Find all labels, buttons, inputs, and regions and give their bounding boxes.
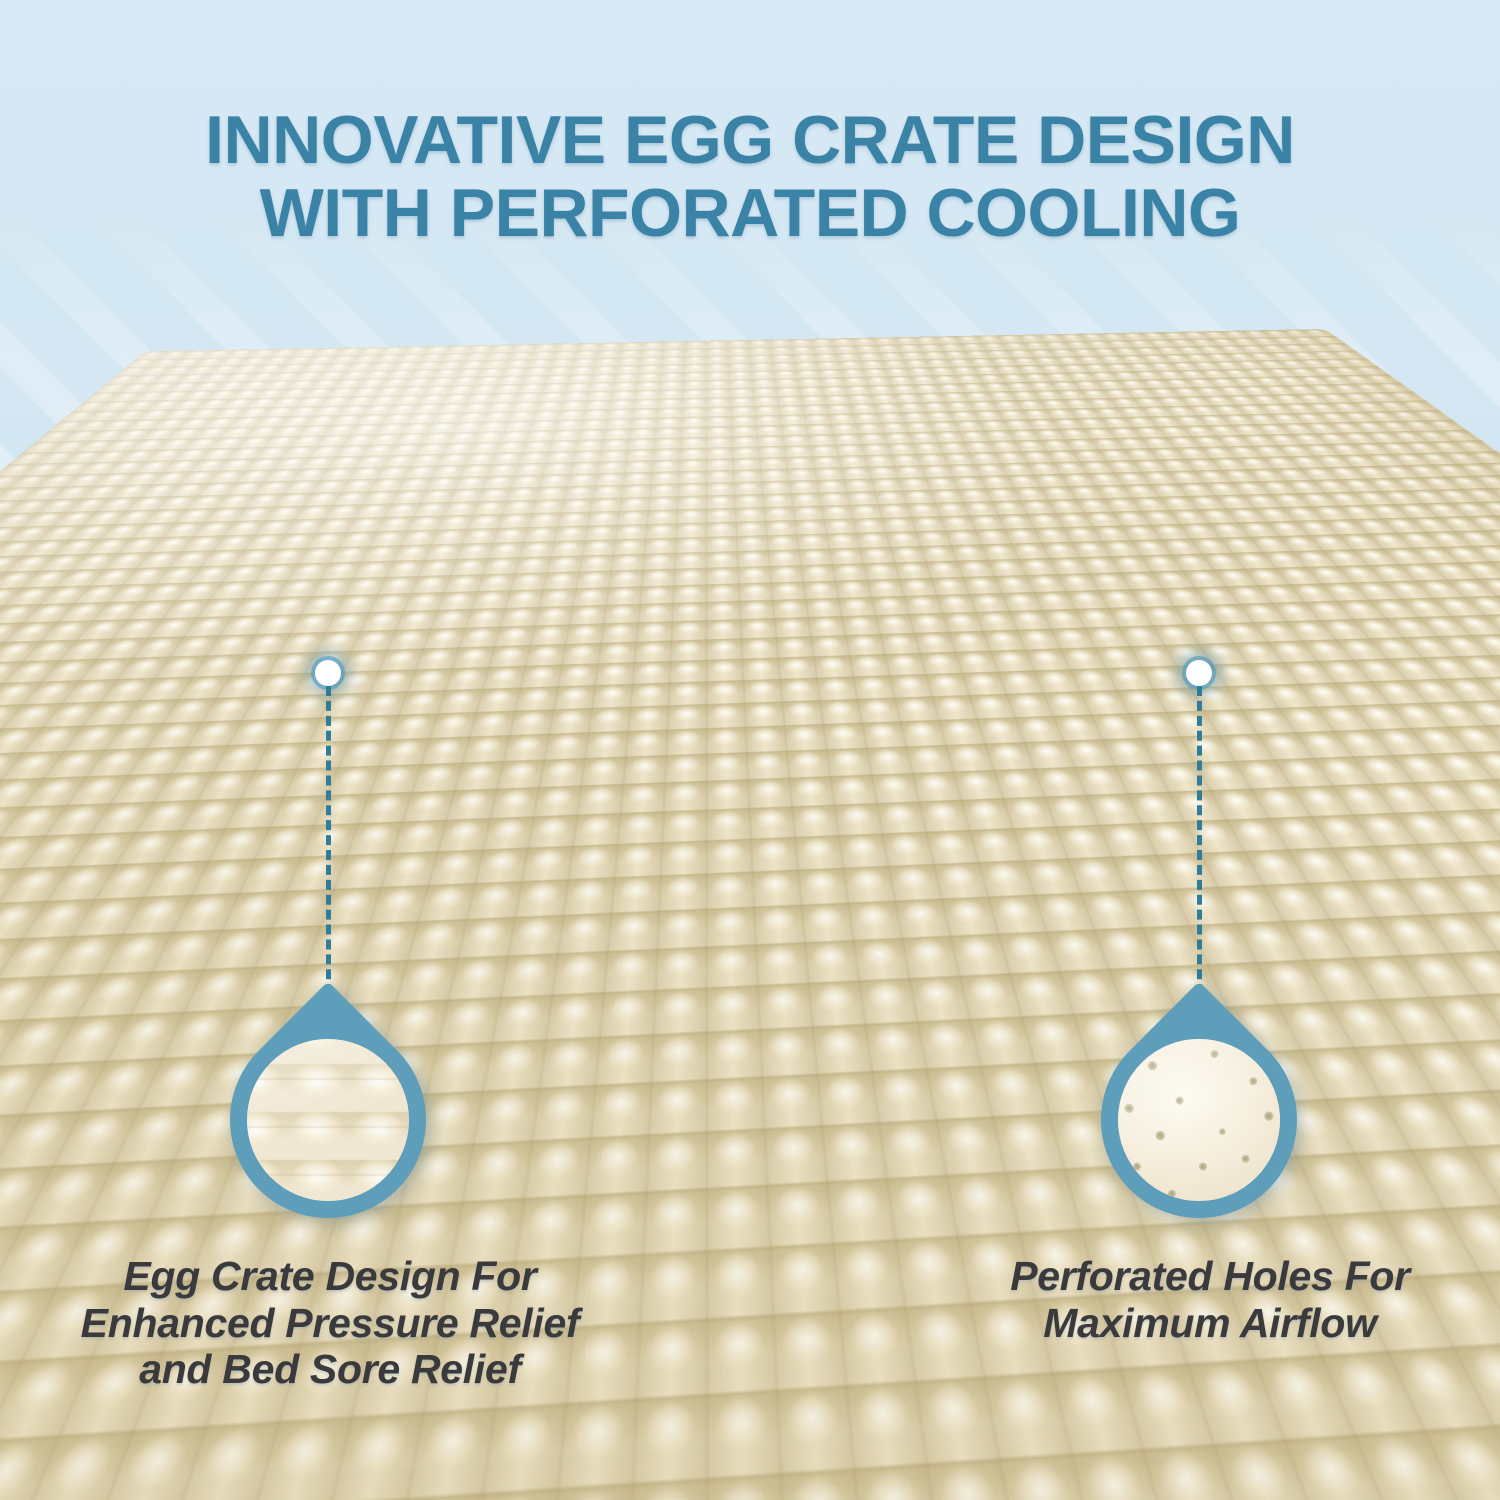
callout-pin-perforated-holes[interactable] xyxy=(1101,1022,1297,1272)
page-title: INNOVATIVE EGG CRATE DESIGN WITH PERFORA… xyxy=(0,104,1500,251)
title-line-2: WITH PERFORATED COOLING xyxy=(0,177,1500,250)
teardrop-shape-icon xyxy=(1060,981,1337,1258)
callout-image-egg-crate xyxy=(247,1039,409,1201)
caption-egg-crate: Egg Crate Design For Enhanced Pressure R… xyxy=(0,1253,660,1393)
title-line-1: INNOVATIVE EGG CRATE DESIGN xyxy=(205,102,1295,178)
caption-line-2: Enhanced Pressure Relief xyxy=(0,1300,660,1347)
callout-pin-egg-crate[interactable] xyxy=(230,1022,426,1272)
caption-line-1: Perforated Holes For xyxy=(880,1253,1500,1300)
infographic-canvas: INNOVATIVE EGG CRATE DESIGN WITH PERFORA… xyxy=(0,0,1500,1500)
callout-dot-egg-crate xyxy=(315,660,341,686)
product-image-foam-topper xyxy=(0,380,1500,1000)
teardrop-shape-icon xyxy=(189,981,466,1258)
callout-image-perforated-holes xyxy=(1118,1039,1280,1201)
foam-deck-wrapper xyxy=(0,380,1500,1000)
caption-perforated-holes: Perforated Holes For Maximum Airflow xyxy=(880,1253,1500,1346)
callout-leader-line-egg-crate xyxy=(326,686,331,1024)
callout-dot-perforated-holes xyxy=(1186,660,1212,686)
egg-crate-wave-texture xyxy=(247,1039,409,1201)
caption-line-2: Maximum Airflow xyxy=(880,1300,1500,1347)
caption-line-3: and Bed Sore Relief xyxy=(0,1346,660,1393)
perforated-holes-texture xyxy=(1118,1039,1280,1201)
callout-leader-line-perforated-holes xyxy=(1197,686,1202,1024)
caption-line-1: Egg Crate Design For xyxy=(0,1253,660,1300)
